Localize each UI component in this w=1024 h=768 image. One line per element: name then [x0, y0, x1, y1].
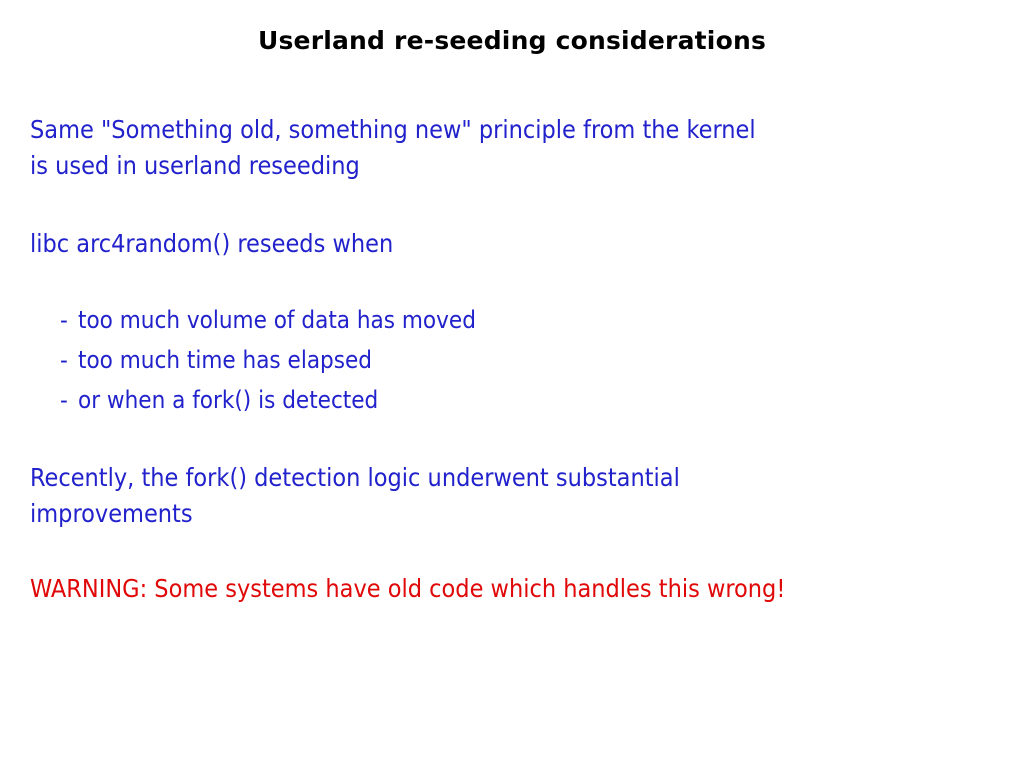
paragraph-libc-heading-line-1: libc arc4random() reseeds when [30, 226, 990, 262]
paragraph-libc-heading: libc arc4random() reseeds when [30, 226, 990, 262]
slide-body: Same "Something old, something new" prin… [30, 112, 990, 606]
paragraph-intro: Same "Something old, something new" prin… [30, 112, 990, 184]
spacer-after-recent-changes [30, 532, 990, 572]
dash-bullet-icon: - [60, 340, 68, 380]
paragraph-recent-changes-line-2: improvements [30, 496, 990, 532]
reseed-conditions-list: - too much volume of data has moved - to… [30, 300, 990, 420]
paragraph-intro-line-2: is used in userland reseeding [30, 148, 990, 184]
warning-text: WARNING: Some systems have old code whic… [30, 572, 990, 606]
list-item: - too much volume of data has moved [30, 300, 990, 340]
paragraph-recent-changes: Recently, the fork() detection logic und… [30, 460, 990, 532]
dash-bullet-icon: - [60, 300, 68, 340]
spacer-after-libc-heading [30, 262, 990, 300]
spacer-after-intro [30, 184, 990, 226]
list-item: - or when a fork() is detected [30, 380, 990, 420]
paragraph-intro-line-1: Same "Something old, something new" prin… [30, 112, 990, 148]
list-item-label: too much volume of data has moved [78, 306, 476, 334]
dash-bullet-icon: - [60, 380, 68, 420]
paragraph-recent-changes-line-1: Recently, the fork() detection logic und… [30, 460, 990, 496]
list-item-label: or when a fork() is detected [78, 386, 378, 414]
slide-title: Userland re-seeding considerations [0, 26, 1024, 56]
presentation-slide: Userland re-seeding considerations Same … [0, 0, 1024, 768]
list-item: - too much time has elapsed [30, 340, 990, 380]
spacer-after-bullets [30, 420, 990, 460]
list-item-label: too much time has elapsed [78, 346, 372, 374]
